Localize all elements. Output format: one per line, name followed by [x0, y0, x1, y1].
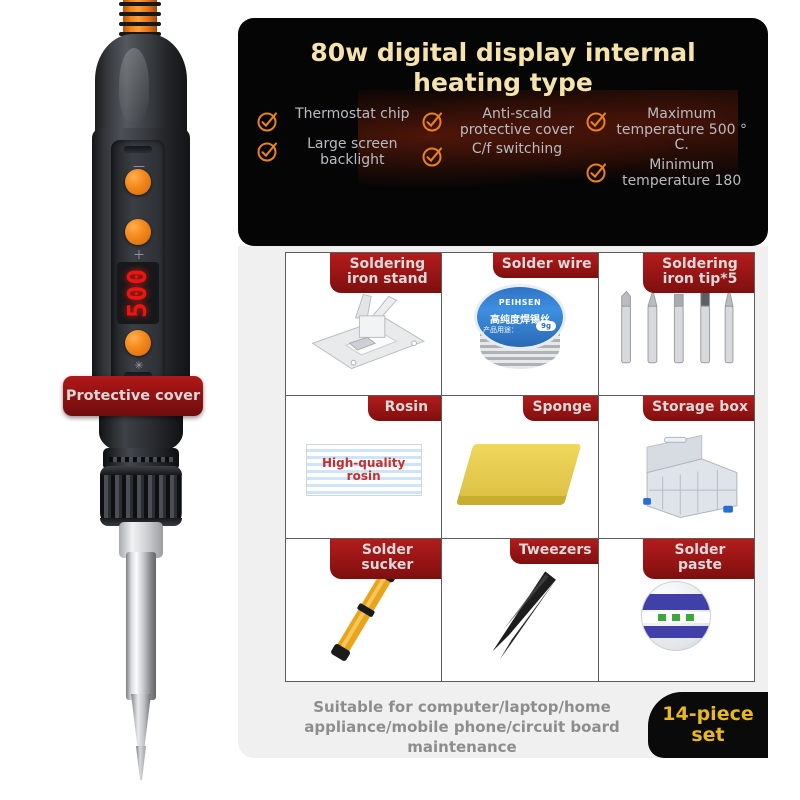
feature-item: Minimum temperature 180 [585, 158, 750, 189]
feature-item: C/f switching [421, 142, 586, 168]
soldering-iron-illustration: — ＋ 500 ✳ Protective cover [0, 0, 232, 800]
storage-box-icon [608, 410, 745, 529]
spool-sub: 产品用途： [483, 325, 518, 335]
accessory-label: Storage box [643, 396, 754, 421]
accessory-label: Soldering iron tip*5 [643, 253, 754, 293]
check-circle-icon [585, 160, 609, 184]
headline-panel: 80w digital display internal heating typ… [238, 18, 768, 246]
settings-icon: ✳ [128, 360, 150, 371]
solder-wire-icon: PEIHSEN 高纯度焊锡丝 产品用途： 9g [477, 287, 563, 373]
rosin-text: High-quality rosin [307, 457, 421, 482]
accessory-label: Solder paste [643, 539, 754, 579]
check-circle-icon [585, 109, 609, 133]
plus-icon: ＋ [128, 249, 150, 261]
iron-shaft [126, 552, 156, 700]
accessory-cell-rosin[interactable]: High-quality rosin Rosin [286, 396, 441, 538]
sponge-icon [459, 444, 582, 496]
feature-item: Maximum temperature 500 ° C. [585, 107, 750, 154]
feature-label: Anti-scald protective cover [449, 107, 586, 138]
accessory-cell-sucker[interactable]: Solder sucker [286, 539, 441, 681]
feature-label: Maximum temperature 500 ° C. [613, 107, 750, 154]
accessory-cell-tips[interactable]: Soldering iron tip*5 [599, 253, 754, 395]
check-circle-icon [256, 139, 280, 163]
settings-button[interactable] [125, 330, 151, 356]
feature-label: C/f switching [449, 142, 586, 158]
accessory-cell-sponge[interactable]: Sponge [442, 396, 597, 538]
accessory-label: Rosin [368, 396, 441, 421]
feature-label: Minimum temperature 180 [613, 158, 750, 189]
solder-paste-icon [641, 581, 711, 651]
check-circle-icon [421, 144, 445, 168]
feature-column-1: Thermostat chip Large screen backlight [256, 107, 421, 189]
protective-cover-text: Protective cover [66, 388, 200, 404]
accessory-label: Solder wire [493, 253, 598, 278]
accessory-cell-stand[interactable]: Soldering iron stand [286, 253, 441, 395]
piece-count-text: 14-piece set [648, 704, 768, 747]
accessory-label: Tweezers [510, 539, 598, 564]
temperature-display: 500 [117, 262, 159, 324]
iron-taper [131, 694, 151, 750]
feature-item: Anti-scald protective cover [421, 107, 586, 138]
tweezers-icon [452, 553, 589, 672]
iron-knurled-nut [100, 466, 182, 526]
spool-weight: 9g [536, 321, 556, 331]
feature-item: Large screen backlight [256, 137, 421, 168]
piece-count-badge: 14-piece set [648, 692, 768, 758]
accessory-cell-paste[interactable]: Solder paste [599, 539, 754, 681]
feature-column-2: Anti-scald protective cover C/f switchin… [421, 107, 586, 189]
feature-label: Large screen backlight [284, 137, 421, 168]
rosin-pack-icon: High-quality rosin [306, 444, 422, 496]
iron-tip [136, 746, 146, 780]
vent-slot-top [124, 146, 152, 153]
iron-handle-top [95, 34, 187, 142]
accessory-cell-tweezers[interactable]: Tweezers [442, 539, 597, 681]
feature-label: Thermostat chip [284, 107, 421, 123]
accessory-label: Sponge [523, 396, 597, 421]
minus-icon: — [128, 160, 150, 172]
accessory-label: Soldering iron stand [330, 253, 441, 293]
page-title: 80w digital display internal heating typ… [238, 18, 768, 97]
accessory-cell-wire[interactable]: PEIHSEN 高纯度焊锡丝 产品用途： 9g Solder wire [442, 253, 597, 395]
feature-column-3: Maximum temperature 500 ° C. Minimum tem… [585, 107, 750, 189]
check-circle-icon [256, 109, 280, 133]
usage-note: Suitable for computer/laptop/home applia… [262, 698, 662, 757]
accessories-grid: Soldering iron stand PEIHSEN 高纯度焊锡丝 产品用途… [285, 252, 755, 682]
feature-list: Thermostat chip Large screen backlight A… [238, 107, 768, 189]
protective-cover-callout: Protective cover [63, 376, 203, 416]
accessory-label: Solder sucker [330, 539, 441, 579]
spool-brand: PEIHSEN [477, 298, 563, 307]
plus-button[interactable] [125, 219, 151, 245]
temperature-value: 500 [123, 268, 153, 318]
accessory-cell-box[interactable]: Storage box [599, 396, 754, 538]
feature-item: Thermostat chip [256, 107, 421, 133]
check-circle-icon [421, 109, 445, 133]
